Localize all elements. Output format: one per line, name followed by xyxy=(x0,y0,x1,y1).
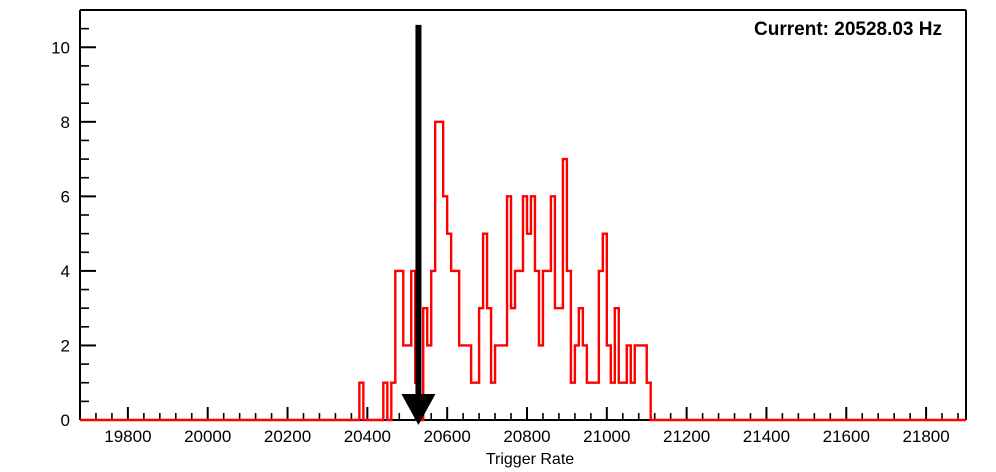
x-axis-tick-label: 20800 xyxy=(503,427,550,446)
histogram-step-curve[interactable] xyxy=(80,122,966,420)
x-axis-tick-label: 20400 xyxy=(344,427,391,446)
x-axis-tick-label: 20600 xyxy=(424,427,471,446)
x-axis-tick-labels: 1980020000202002040020600208002100021200… xyxy=(104,427,949,446)
y-axis-tick-label: 0 xyxy=(61,411,70,430)
y-axis-tick-label: 8 xyxy=(61,113,70,132)
x-axis-tick-label: 19800 xyxy=(104,427,151,446)
current-rate-label: Current: 20528.03 Hz xyxy=(754,19,942,40)
y-axis-tick-label: 10 xyxy=(51,38,70,57)
x-axis-tick-label: 21000 xyxy=(583,427,630,446)
current-rate-marker[interactable] xyxy=(401,25,435,425)
y-axis-tick-label: 2 xyxy=(61,336,70,355)
y-axis-tick-label: 4 xyxy=(61,262,70,281)
x-axis-tick-label: 20000 xyxy=(184,427,231,446)
x-axis-ticks xyxy=(80,407,958,420)
x-axis-tick-label: 21800 xyxy=(902,427,949,446)
y-axis-tick-label: 6 xyxy=(61,187,70,206)
x-axis-tick-label: 21600 xyxy=(823,427,870,446)
x-axis-tick-label: 20200 xyxy=(264,427,311,446)
x-axis-tick-label: 21200 xyxy=(663,427,710,446)
x-axis-title: Trigger Rate xyxy=(486,451,574,468)
x-axis-tick-label: 21400 xyxy=(743,427,790,446)
root-canvas: 1980020000202002040020600208002100021200… xyxy=(0,0,996,472)
y-axis-ticks xyxy=(80,10,96,420)
y-axis-tick-labels: 0246810 xyxy=(51,38,70,430)
trigger-rate-histogram-plot[interactable]: 1980020000202002040020600208002100021200… xyxy=(0,0,996,472)
